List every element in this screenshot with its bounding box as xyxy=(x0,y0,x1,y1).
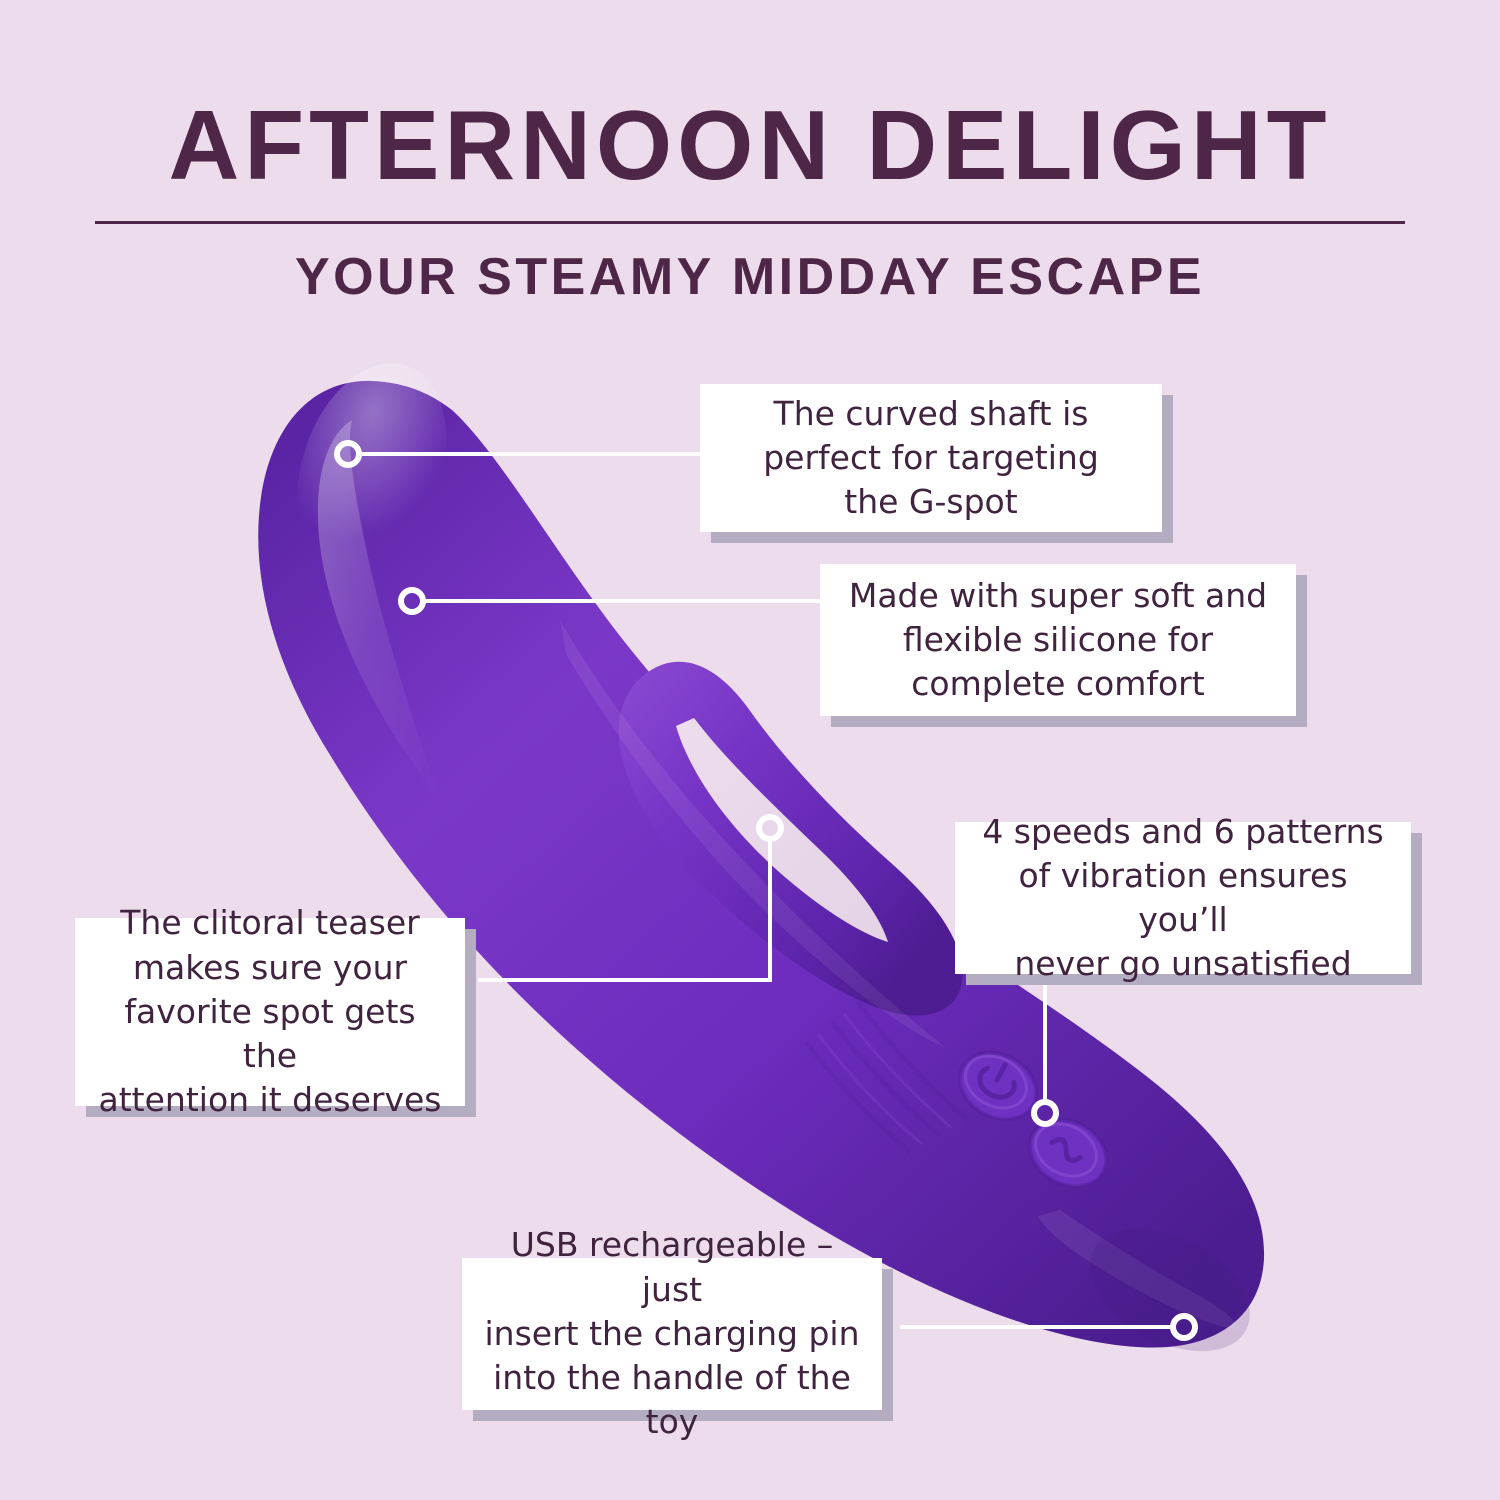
callout-speeds: 4 speeds and 6 patterns of vibration ens… xyxy=(955,822,1411,974)
callout-usb-text: USB rechargeable – just insert the charg… xyxy=(480,1223,864,1444)
callout-clitoral-text: The clitoral teaser makes sure your favo… xyxy=(93,901,447,1122)
infographic-canvas: AFTERNOON DELIGHT YOUR STEAMY MIDDAY ESC… xyxy=(0,0,1500,1500)
callout-gspot: The curved shaft is perfect for targetin… xyxy=(700,384,1162,532)
callout-clitoral: The clitoral teaser makes sure your favo… xyxy=(75,918,465,1106)
callout-usb: USB rechargeable – just insert the charg… xyxy=(462,1258,882,1410)
page-title: AFTERNOON DELIGHT xyxy=(0,96,1500,194)
callout-gspot-text: The curved shaft is perfect for targetin… xyxy=(763,392,1099,525)
title-divider xyxy=(95,221,1405,224)
callout-silicone-text: Made with super soft and flexible silico… xyxy=(849,574,1267,707)
callout-speeds-text: 4 speeds and 6 patterns of vibration ens… xyxy=(973,810,1393,987)
callout-silicone: Made with super soft and flexible silico… xyxy=(820,564,1296,716)
page-subtitle: YOUR STEAMY MIDDAY ESCAPE xyxy=(0,248,1500,308)
